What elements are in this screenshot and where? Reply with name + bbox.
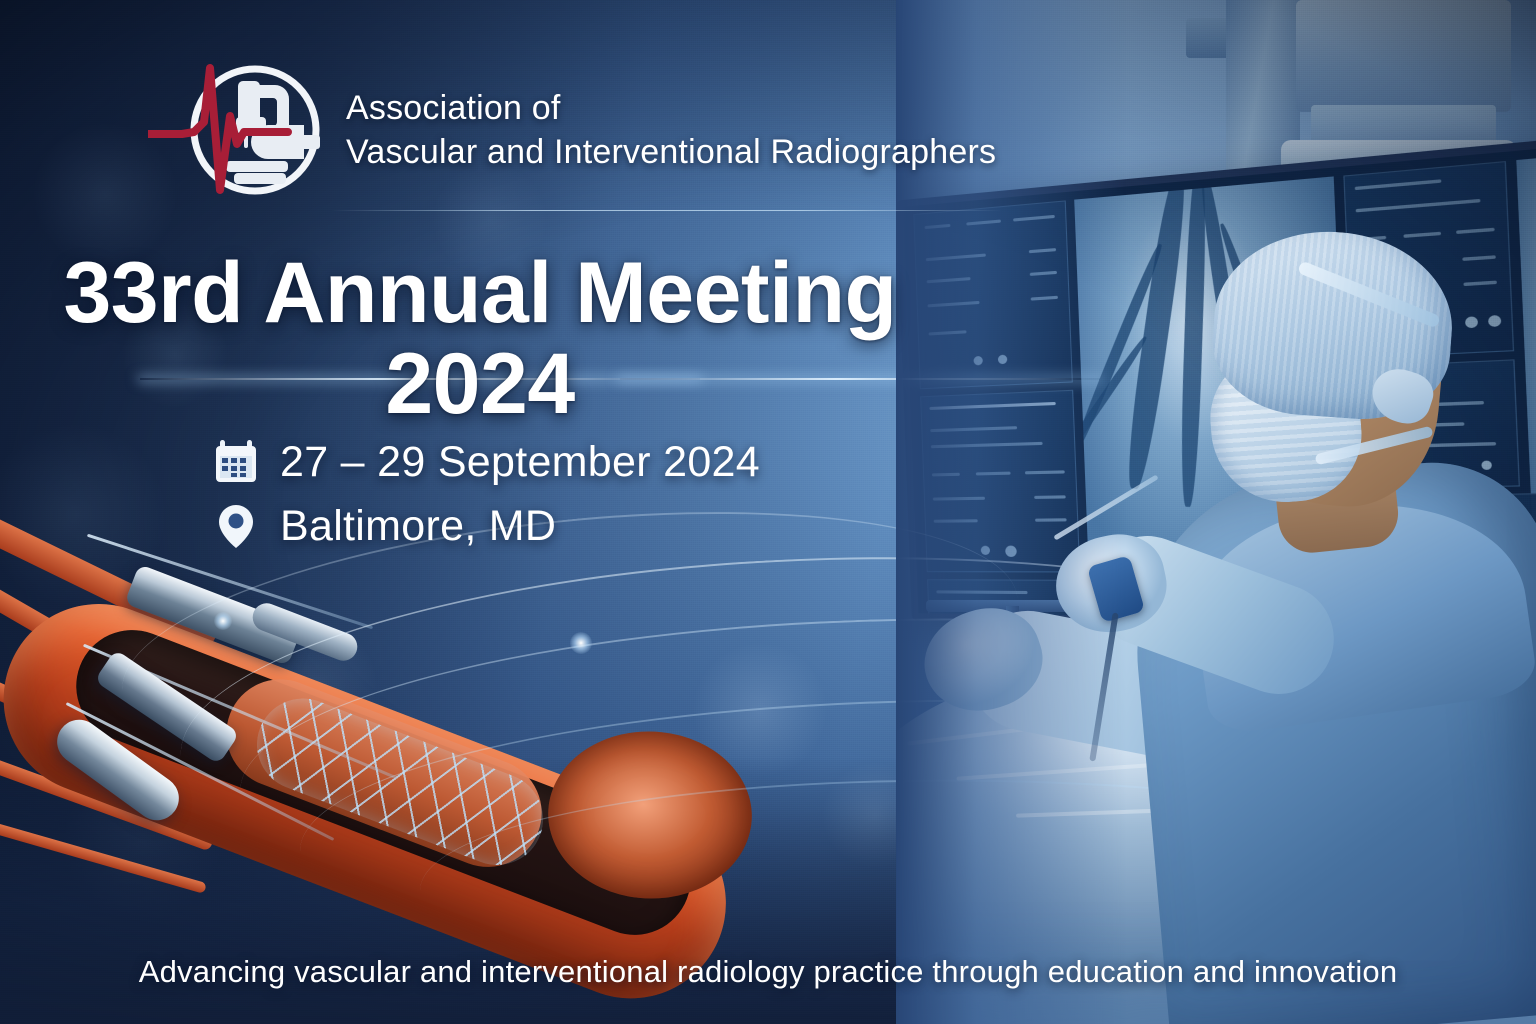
event-dates: 27 – 29 September 2024 xyxy=(280,441,760,484)
conference-banner: Association of Vascular and Intervention… xyxy=(0,0,1536,1024)
page-title: 33rd Annual Meeting 2024 xyxy=(0,248,960,430)
calendar-icon xyxy=(214,438,258,486)
tagline: Advancing vascular and interventional ra… xyxy=(0,954,1536,990)
event-meta: 27 – 29 September 2024 Baltimore, MD xyxy=(214,438,760,550)
microscope-ecg-circle-logo xyxy=(148,62,320,198)
event-location-row: Baltimore, MD xyxy=(214,502,760,550)
event-location: Baltimore, MD xyxy=(280,505,556,548)
organization-name: Association of Vascular and Intervention… xyxy=(346,86,996,174)
banner-content: Association of Vascular and Intervention… xyxy=(0,0,1536,1024)
organization-lockup: Association of Vascular and Intervention… xyxy=(148,62,996,198)
meeting-year: 2024 xyxy=(0,339,960,430)
header-divider xyxy=(330,210,1002,211)
event-dates-row: 27 – 29 September 2024 xyxy=(214,438,760,486)
map-pin-icon xyxy=(214,502,258,550)
meeting-title-line1: 33rd Annual Meeting xyxy=(63,245,896,341)
